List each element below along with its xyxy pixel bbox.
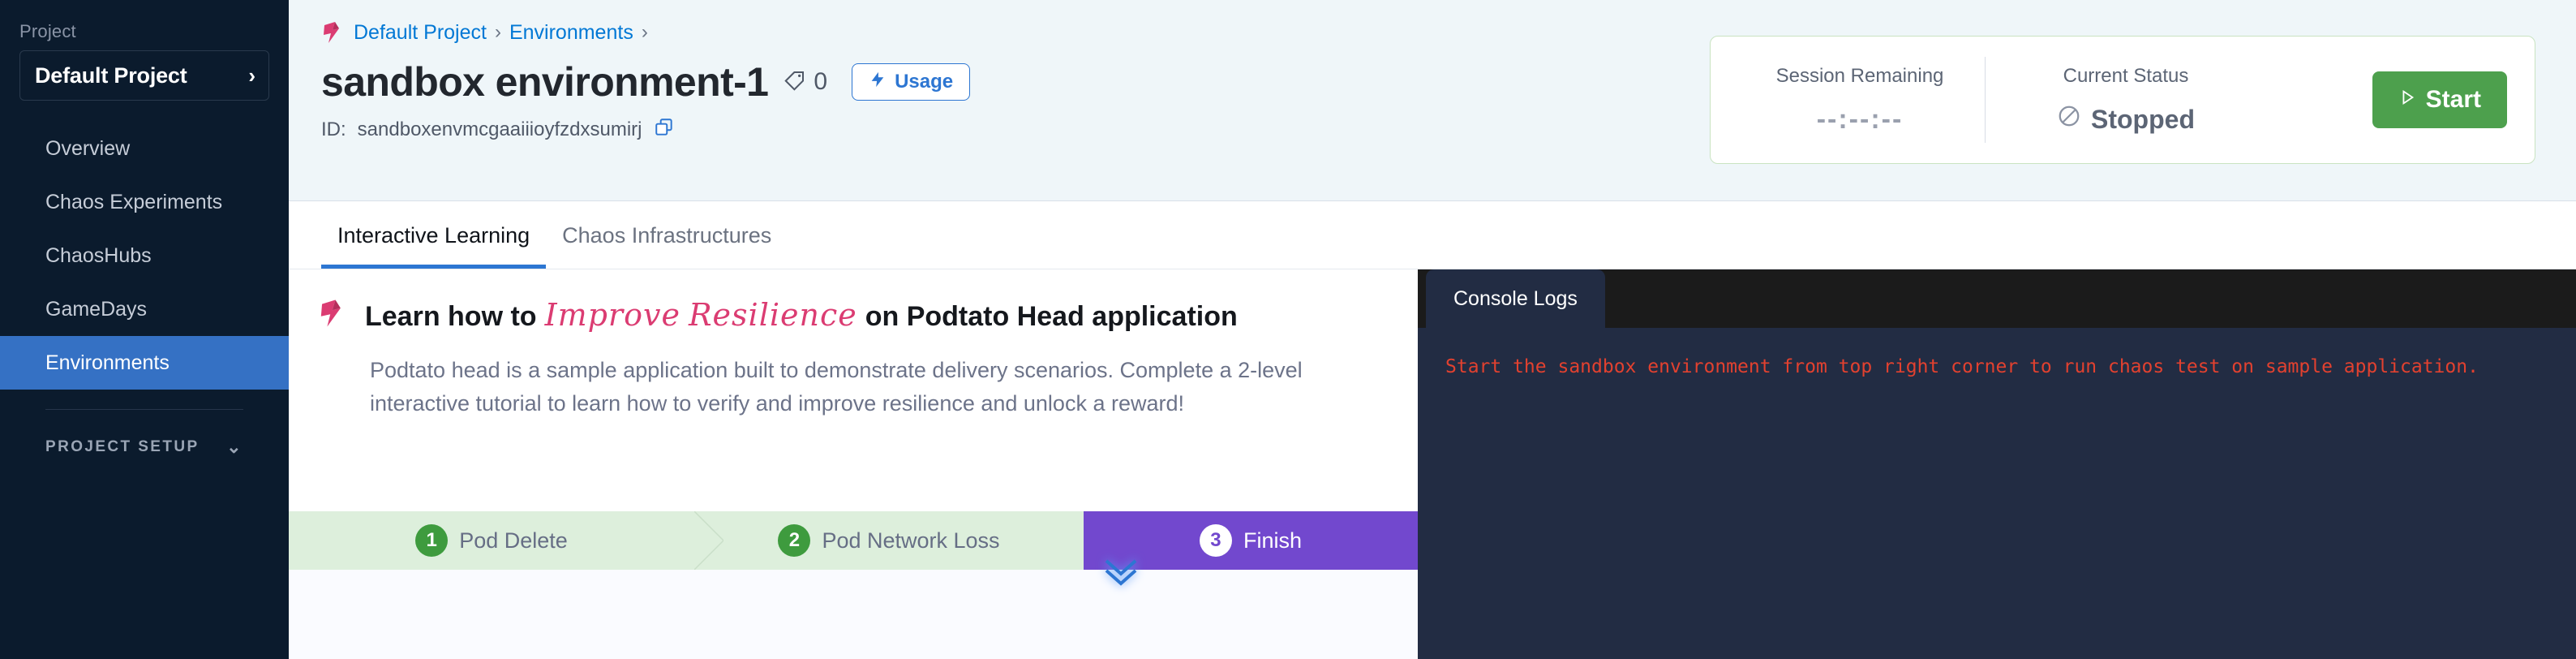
- tab-bar: Interactive Learning Chaos Infrastructur…: [289, 201, 2576, 269]
- sidebar-item-label: Chaos Experiments: [45, 191, 222, 214]
- status-badge: Stopped: [1992, 104, 2260, 135]
- usage-button-label: Usage: [895, 71, 953, 93]
- step-pod-network-loss[interactable]: 2 Pod Network Loss: [694, 511, 1084, 570]
- tab-chaos-infrastructures[interactable]: Chaos Infrastructures: [546, 202, 788, 269]
- no-entry-icon: [2057, 104, 2081, 135]
- console-log-output[interactable]: Start the sandbox environment from top r…: [1418, 328, 2576, 384]
- sidebar-project-setup-label: PROJECT SETUP: [45, 438, 200, 456]
- learning-description: Podtato head is a sample application bui…: [370, 354, 1367, 420]
- tutorial-steps: 1 Pod Delete 2 Pod Network Loss: [289, 511, 1418, 570]
- console-tab-bar: Console Logs: [1418, 269, 2576, 328]
- lightning-bolt-icon: [869, 70, 887, 95]
- step-pod-delete[interactable]: 1 Pod Delete: [289, 511, 694, 570]
- content-area: Default Project › Environments › sandbox…: [289, 0, 2576, 659]
- sidebar-item-label: Environments: [45, 351, 170, 375]
- sidebar-item-gamedays[interactable]: GameDays: [0, 282, 289, 336]
- chevron-down-icon: ⌄: [226, 437, 243, 458]
- tab-console-logs[interactable]: Console Logs: [1426, 269, 1605, 328]
- session-card: Session Remaining --:--:-- Current Statu…: [1710, 36, 2535, 164]
- step-number-badge: 3: [1200, 524, 1232, 557]
- console-panel: Console Logs Start the sandbox environme…: [1418, 269, 2576, 659]
- current-status-col: Current Status Stopped: [1992, 65, 2260, 135]
- step-label: Pod Delete: [459, 528, 568, 553]
- tag-icon: [783, 68, 807, 97]
- breadcrumb-separator: ›: [642, 21, 648, 44]
- sidebar-item-environments[interactable]: Environments: [0, 336, 289, 390]
- step-number-badge: 2: [778, 524, 810, 557]
- step-arrow-divider: [694, 511, 723, 570]
- sidebar-project-label: Project: [0, 21, 289, 42]
- step-number-badge: 1: [415, 524, 448, 557]
- sidebar-item-chaos-experiments[interactable]: Chaos Experiments: [0, 175, 289, 229]
- tag-count: 0: [814, 68, 827, 96]
- project-selector-label: Default Project: [35, 63, 187, 88]
- tab-label: Interactive Learning: [337, 223, 530, 248]
- app-root: Project Default Project › Overview Chaos…: [0, 0, 2576, 659]
- tab-interactive-learning[interactable]: Interactive Learning: [321, 202, 546, 269]
- console-log-line: Start the sandbox environment from top r…: [1445, 351, 2548, 384]
- learning-heading-suffix: on Podtato Head application: [865, 301, 1238, 333]
- project-selector[interactable]: Default Project ›: [19, 50, 269, 101]
- sidebar-nav: Overview Chaos Experiments ChaosHubs Gam…: [0, 122, 289, 390]
- learning-heading: Learn how to Improve Resilience on Podta…: [365, 297, 1238, 333]
- session-divider: [1985, 57, 1986, 143]
- page-title: sandbox environment-1: [321, 58, 768, 106]
- learning-heading-prefix: Learn how to: [365, 301, 537, 333]
- usage-button[interactable]: Usage: [852, 63, 970, 101]
- sidebar: Project Default Project › Overview Chaos…: [0, 0, 289, 659]
- body-split: Learn how to Improve Resilience on Podta…: [289, 269, 2576, 659]
- step-label: Finish: [1243, 528, 1302, 553]
- chevron-right-icon: ›: [248, 65, 255, 86]
- session-remaining-label: Session Remaining: [1738, 65, 1981, 88]
- breadcrumb-item-environments[interactable]: Environments: [509, 21, 633, 45]
- page-header: Default Project › Environments › sandbox…: [289, 0, 2576, 201]
- learning-heading-row: Learn how to Improve Resilience on Podta…: [289, 269, 1418, 333]
- breadcrumb-separator: ›: [495, 21, 501, 44]
- tag-group: 0: [783, 68, 827, 97]
- environment-id-prefix: ID:: [321, 118, 346, 141]
- learning-heading-script-resilience: Resilience: [689, 297, 857, 333]
- interactive-learning-panel: Learn how to Improve Resilience on Podta…: [289, 269, 1418, 659]
- status-value: Stopped: [2091, 105, 2195, 135]
- harness-logo-icon: [321, 20, 346, 45]
- copy-icon[interactable]: [654, 117, 675, 142]
- current-status-label: Current Status: [1992, 65, 2260, 88]
- double-chevron-down-icon[interactable]: [1097, 554, 1145, 594]
- start-button-label: Start: [2426, 86, 2481, 114]
- sidebar-divider: [45, 409, 243, 410]
- tab-label: Chaos Infrastructures: [562, 223, 771, 248]
- breadcrumb-item-project[interactable]: Default Project: [354, 21, 487, 45]
- steps-background: [289, 570, 1418, 659]
- sidebar-item-overview[interactable]: Overview: [0, 122, 289, 175]
- sidebar-project-setup[interactable]: PROJECT SETUP ⌄: [0, 429, 289, 465]
- sidebar-item-label: Overview: [45, 137, 130, 161]
- sidebar-item-chaoshubs[interactable]: ChaosHubs: [0, 229, 289, 282]
- sidebar-item-label: GameDays: [45, 298, 147, 321]
- harness-logo-icon: [318, 298, 349, 333]
- start-button[interactable]: Start: [2372, 71, 2507, 128]
- learning-heading-script-improve: Improve: [545, 297, 680, 333]
- environment-id-value: sandboxenvmcgaaiiioyfzdxsumirj: [358, 118, 642, 141]
- session-remaining-col: Session Remaining --:--:--: [1738, 65, 1981, 136]
- step-label: Pod Network Loss: [822, 528, 999, 553]
- sidebar-item-label: ChaosHubs: [45, 244, 152, 268]
- session-remaining-value: --:--:--: [1738, 104, 1981, 136]
- console-tab-label: Console Logs: [1453, 287, 1578, 311]
- play-icon: [2398, 86, 2416, 114]
